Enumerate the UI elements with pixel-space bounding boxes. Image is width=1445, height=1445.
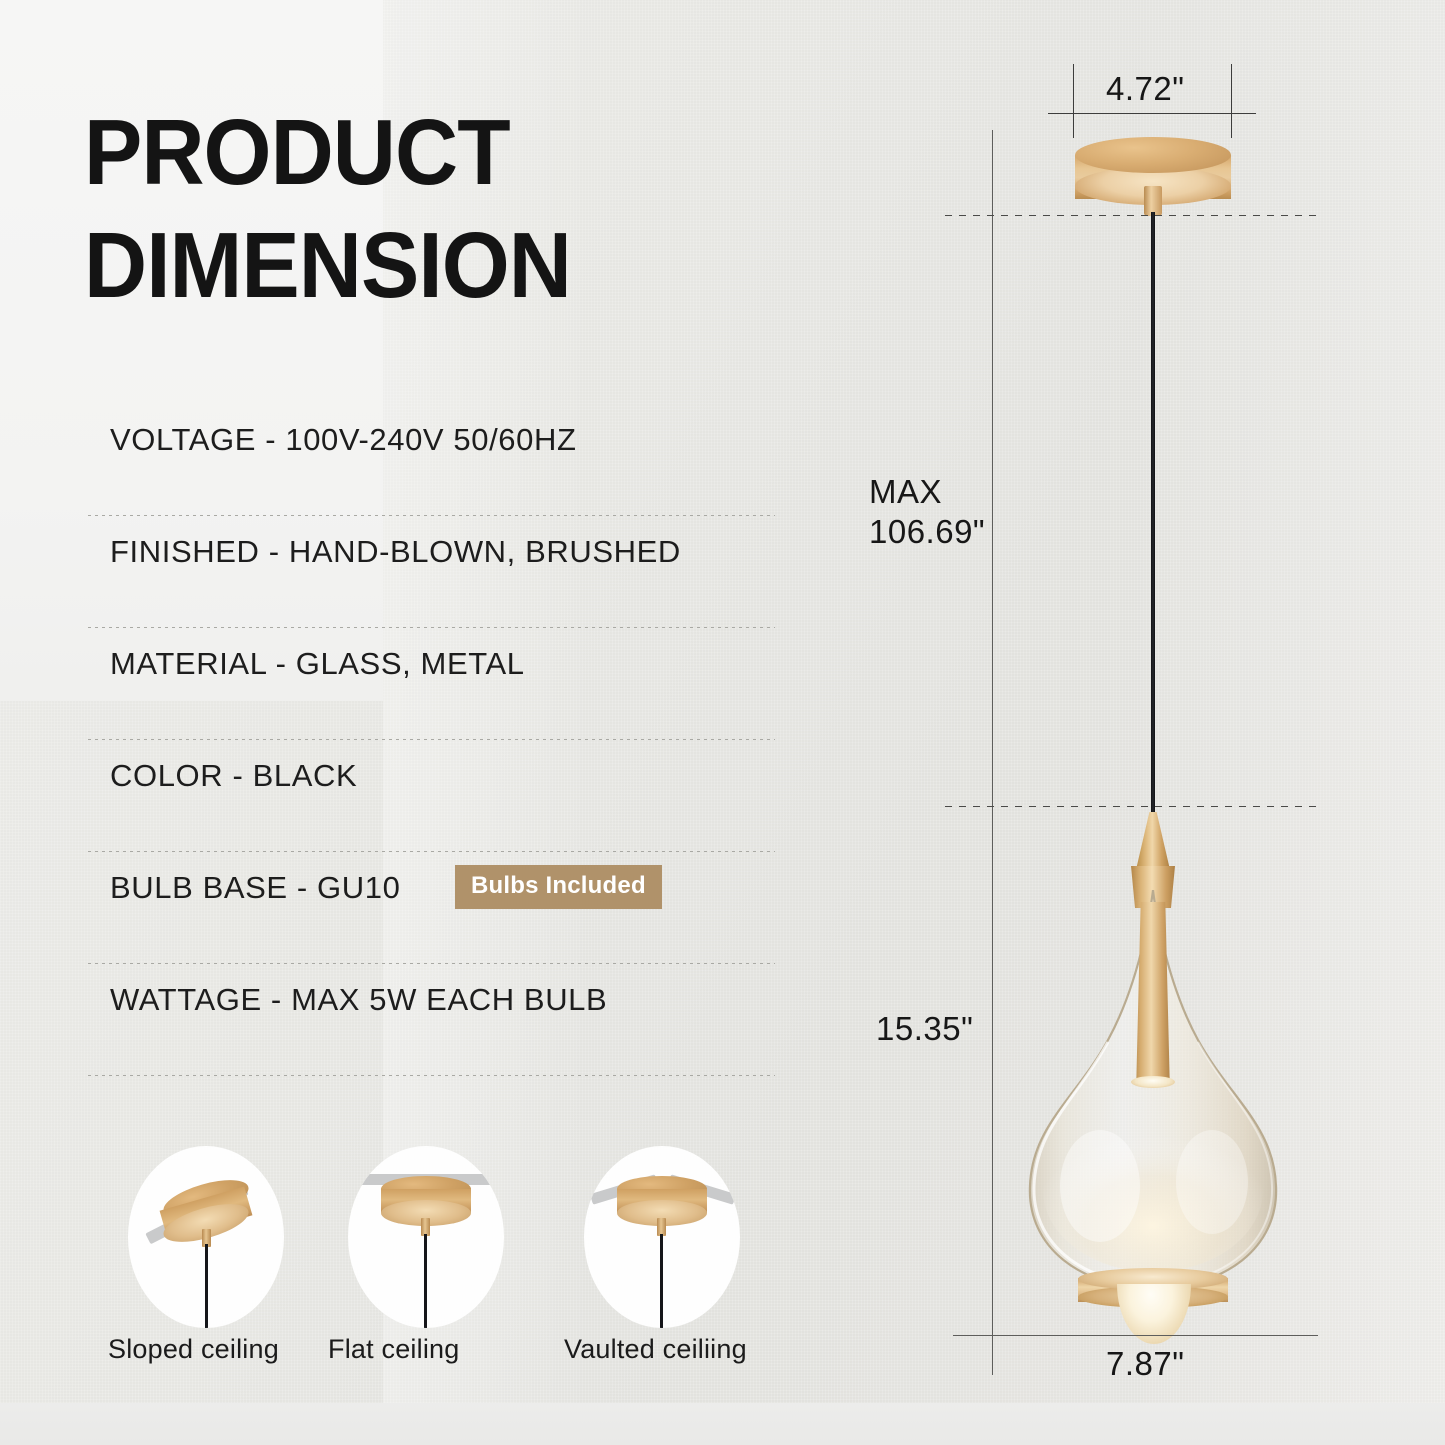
spec-text-color: COLOR - BLACK [110,758,357,794]
spec-text-voltage: VOLTAGE - 100V-240V 50/60HZ [110,422,577,458]
cone-lens [1131,1076,1175,1088]
mount-label-flat: Flat ceiling [328,1334,548,1365]
dimension-shade-diameter: 7.87" [1106,1345,1184,1383]
glass-reflection-right [1176,1130,1248,1234]
guide-line-shade-top [945,806,1317,807]
tick-right [1231,64,1232,138]
canopy-top [1075,137,1231,173]
spec-row-material: MATERIAL - GLASS, METAL [88,628,778,740]
measure-line-vertical [992,130,993,1375]
measure-line-shade-width [953,1335,1318,1336]
cord [424,1234,427,1328]
measure-line-canopy-width [1048,113,1256,114]
mount-option-flat: Flat ceiling [328,1146,528,1396]
mount-label-sloped: Sloped ceiling [108,1334,328,1365]
flat-ceiling-icon [348,1146,504,1328]
product-dimension-infographic: PRODUCT DIMENSION VOLTAGE - 100V-240V 50… [0,0,1445,1445]
mount-option-sloped: Sloped ceiling [108,1146,308,1396]
spec-row-color: COLOR - BLACK [88,740,778,852]
vaulted-ceiling-icon [584,1146,740,1328]
spec-separator [88,1075,775,1076]
page-title-line-2: DIMENSION [84,209,742,322]
spec-row-wattage: WATTAGE - MAX 5W EACH BULB [88,964,778,1076]
mounting-options: Sloped ceiling Flat ceiling [96,1146,796,1396]
cord [660,1234,663,1328]
glass-reflection-left [1060,1130,1140,1242]
dimension-shade-height: 15.35" [876,1010,973,1048]
dimension-max-value: 106.69" [869,512,985,552]
cord [205,1244,208,1328]
bulbs-included-badge: Bulbs Included [455,865,662,909]
tick-left [1073,64,1074,138]
spec-text-bulb-base: BULB BASE - GU10 [110,870,400,906]
spec-text-finished: FINISHED - HAND-BLOWN, BRUSHED [110,534,681,570]
mount-label-vaulted: Vaulted ceiliing [564,1334,784,1365]
spec-text-material: MATERIAL - GLASS, METAL [110,646,525,682]
page-title-line-1: PRODUCT [84,96,742,209]
sloped-ceiling-icon [128,1146,284,1328]
lamp-cord [1151,212,1155,822]
spec-row-voltage: VOLTAGE - 100V-240V 50/60HZ [88,404,778,516]
spec-text-wattage: WATTAGE - MAX 5W EACH BULB [110,982,607,1018]
background-floor-band [0,1403,1445,1445]
dimension-max-prefix: MAX [869,472,985,512]
dimension-max-height: MAX 106.69" [869,472,985,552]
specification-list: VOLTAGE - 100V-240V 50/60HZ FINISHED - H… [88,404,778,1076]
dimension-canopy-diameter: 4.72" [1106,70,1184,108]
spec-row-bulb-base: BULB BASE - GU10 Bulbs Included [88,852,778,964]
guide-line-canopy-base [945,215,1317,216]
page-title: PRODUCT DIMENSION [84,96,742,322]
spec-row-finished: FINISHED - HAND-BLOWN, BRUSHED [88,516,778,628]
mount-option-vaulted: Vaulted ceiliing [564,1146,764,1396]
